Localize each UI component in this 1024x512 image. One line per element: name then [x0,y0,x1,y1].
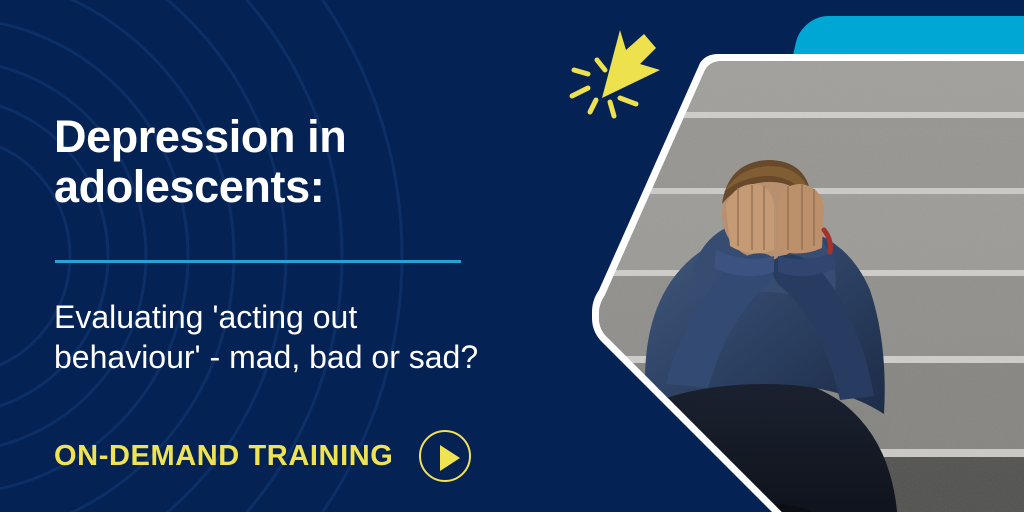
subtitle-line-2: behaviour' - mad, bad or sad? [54,339,478,375]
cta-label: ON-DEMAND TRAINING [54,440,393,473]
page-title: Depression in adolescents: [54,112,524,212]
text-column: Depression in adolescents: Evaluating 'a… [54,0,554,512]
headline-line-2: adolescents: [54,161,324,212]
cta-row[interactable]: ON-DEMAND TRAINING [54,430,471,482]
cyan-divider [55,260,461,263]
yellow-sparkle-arrow-icon [552,8,702,124]
play-button[interactable] [419,430,471,482]
subtitle-line-1: Evaluating 'acting out [54,299,357,335]
subtitle: Evaluating 'acting out behaviour' - mad,… [54,298,574,377]
training-promo-banner: Depression in adolescents: Evaluating 'a… [0,0,1024,512]
headline-line-1: Depression in [54,111,346,162]
